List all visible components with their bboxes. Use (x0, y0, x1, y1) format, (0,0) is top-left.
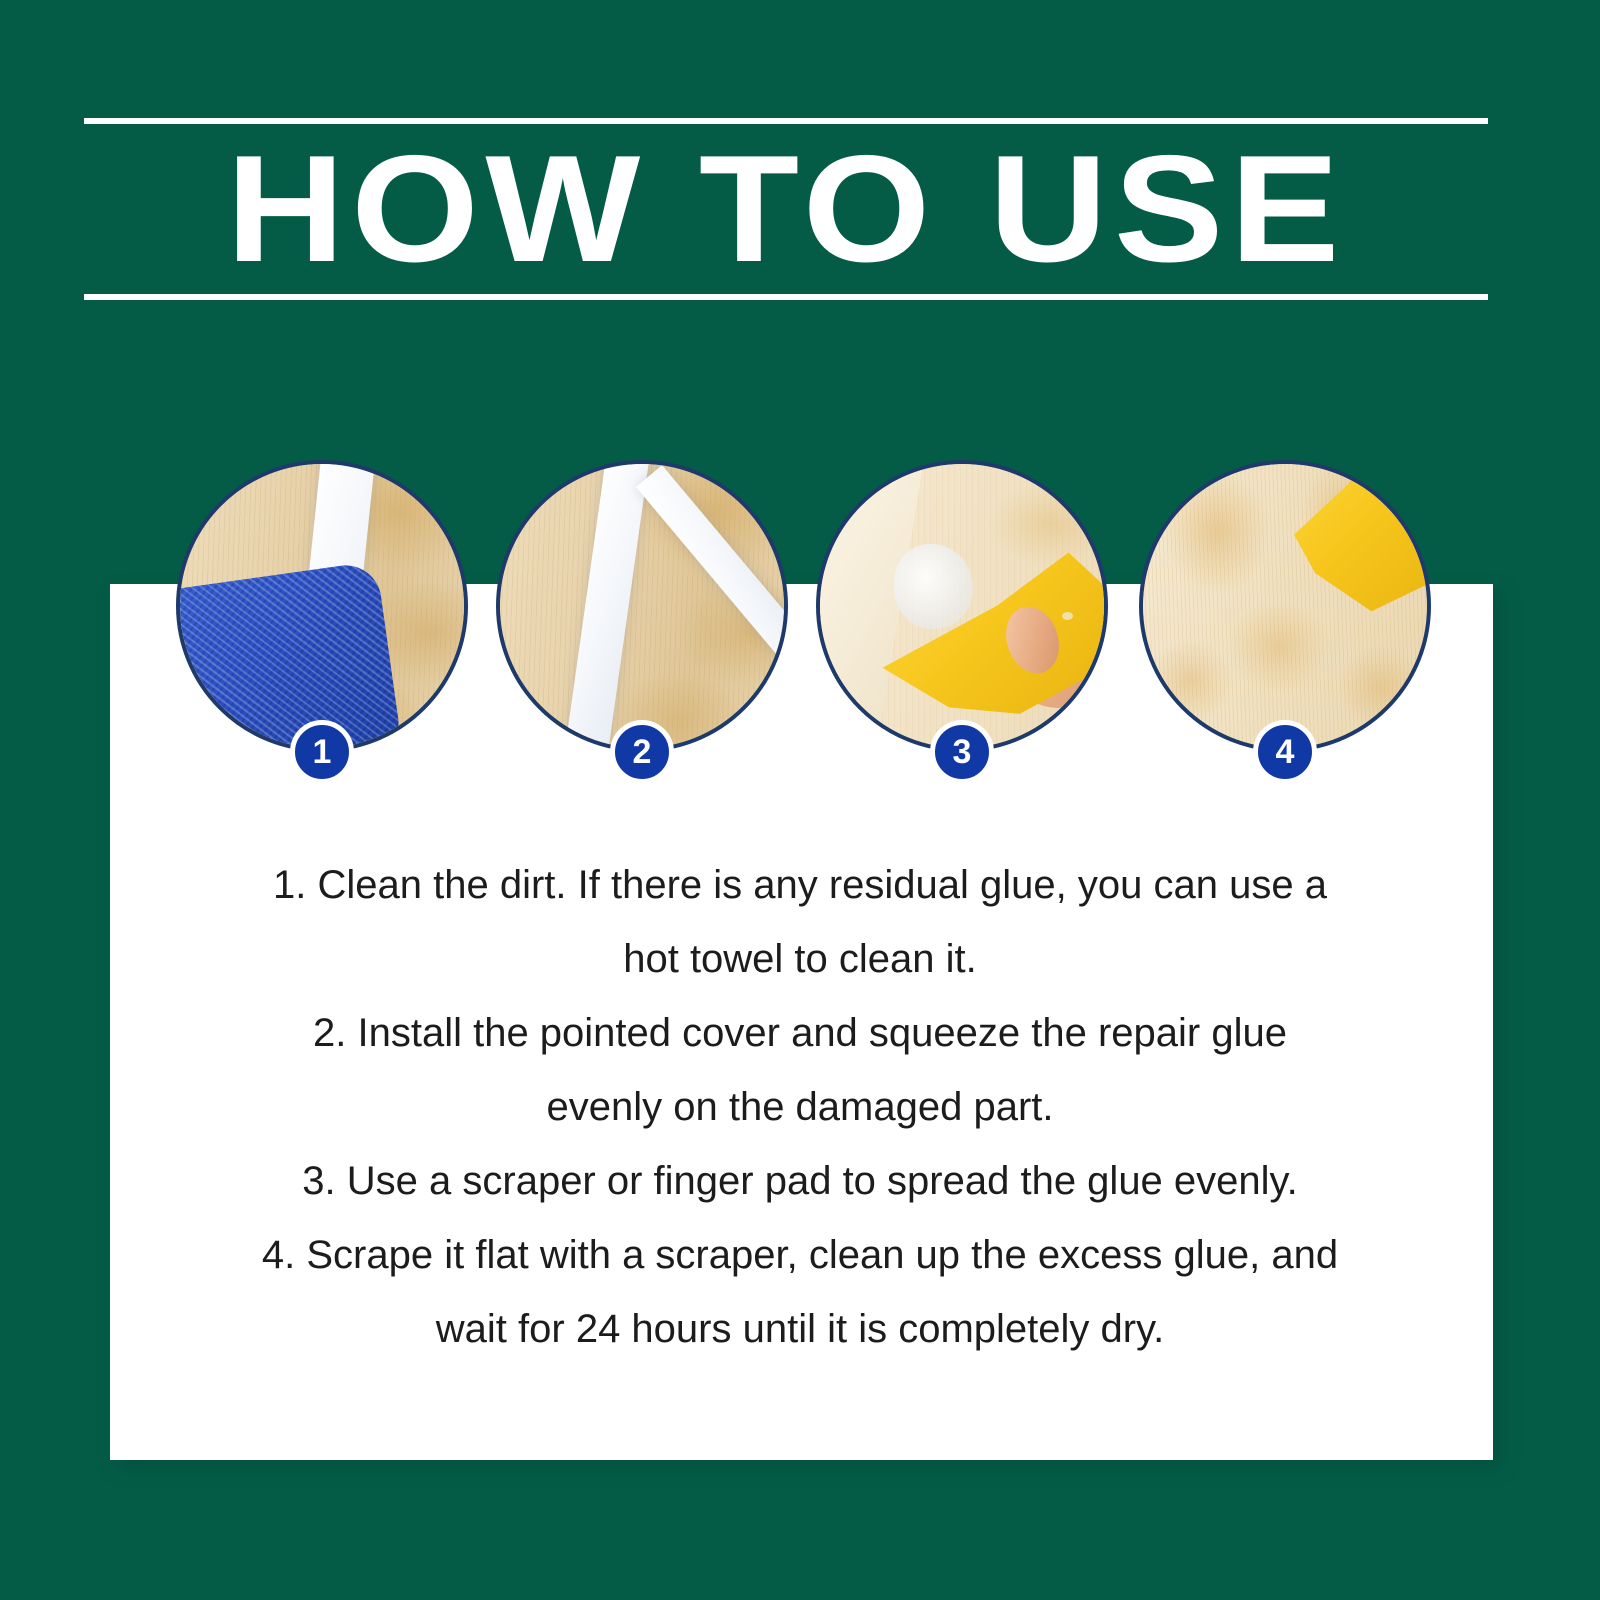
step-photo-2 (496, 460, 788, 752)
instructions-block: 1. Clean the dirt. If there is any resid… (150, 848, 1450, 1366)
step-item-1[interactable]: 1 (176, 460, 468, 752)
step-badge-3: 3 (930, 720, 994, 784)
step-item-2[interactable]: 2 (496, 460, 788, 752)
step-item-4[interactable]: 4 (1139, 460, 1431, 752)
blue-cloth-icon (180, 560, 402, 748)
step-badge-1: 1 (290, 720, 354, 784)
instruction-line: evenly on the damaged part. (150, 1070, 1450, 1144)
header-title-block: HOW TO USE (84, 118, 1488, 300)
step-photo-1 (176, 460, 468, 752)
instruction-line: 1. Clean the dirt. If there is any resid… (150, 848, 1450, 922)
instruction-line: 3. Use a scraper or finger pad to spread… (150, 1144, 1450, 1218)
title-rule-bottom (84, 294, 1488, 300)
instruction-line: hot towel to clean it. (150, 922, 1450, 996)
instruction-line: wait for 24 hours until it is completely… (150, 1292, 1450, 1366)
step-item-3[interactable]: 3 (816, 460, 1108, 752)
instruction-line: 4. Scrape it flat with a scraper, clean … (150, 1218, 1450, 1292)
step-photo-3 (816, 460, 1108, 752)
scraper-hole-icon (1062, 612, 1073, 620)
step-badge-2: 2 (610, 720, 674, 784)
instruction-line: 2. Install the pointed cover and squeeze… (150, 996, 1450, 1070)
page-title: HOW TO USE (28, 124, 1544, 294)
step-photo-4 (1139, 460, 1431, 752)
step-badge-4: 4 (1253, 720, 1317, 784)
